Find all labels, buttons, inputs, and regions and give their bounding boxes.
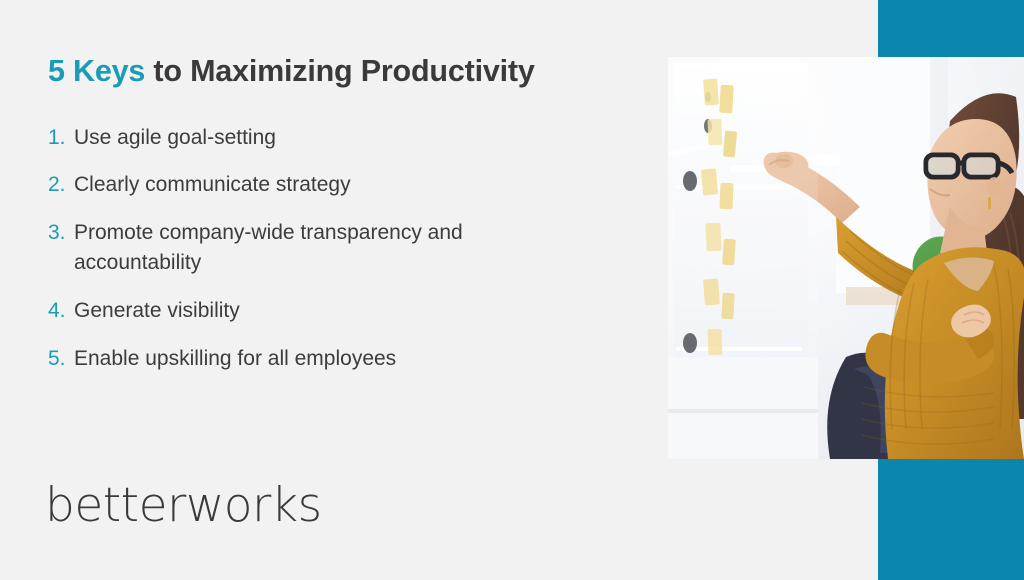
list-item-number: 1. (48, 123, 74, 153)
page-title-rest: to Maximizing Productivity (145, 54, 534, 88)
list-item-number: 4. (48, 296, 74, 326)
list-item: 4. Generate visibility (48, 296, 648, 326)
page-title-accent: 5 Keys (48, 54, 145, 88)
list-item-number: 5. (48, 344, 74, 374)
text-column: 5 Keys to Maximizing Productivity 1. Use… (48, 55, 648, 373)
list-item-text: Enable upskilling for all employees (74, 344, 574, 374)
keys-list: 1. Use agile goal-setting 2. Clearly com… (48, 123, 648, 374)
list-item-text: Clearly communicate strategy (74, 170, 574, 200)
hero-photo-illustration (668, 57, 1024, 459)
list-item-text: Generate visibility (74, 296, 574, 326)
list-item-text: Use agile goal-setting (74, 123, 574, 153)
list-item-number: 3. (48, 218, 74, 248)
list-item: 3. Promote company-wide transparency and… (48, 218, 648, 278)
list-item: 1. Use agile goal-setting (48, 123, 648, 153)
page-title: 5 Keys to Maximizing Productivity (48, 55, 648, 89)
list-item-text: Promote company-wide transparency and ac… (74, 218, 574, 278)
slide: 5 Keys to Maximizing Productivity 1. Use… (0, 0, 1024, 580)
list-item: 5. Enable upskilling for all employees (48, 344, 648, 374)
list-item: 2. Clearly communicate strategy (48, 170, 648, 200)
list-item-number: 2. (48, 170, 74, 200)
betterworks-logo: betterworks (45, 482, 322, 529)
hero-photo (668, 57, 1024, 459)
